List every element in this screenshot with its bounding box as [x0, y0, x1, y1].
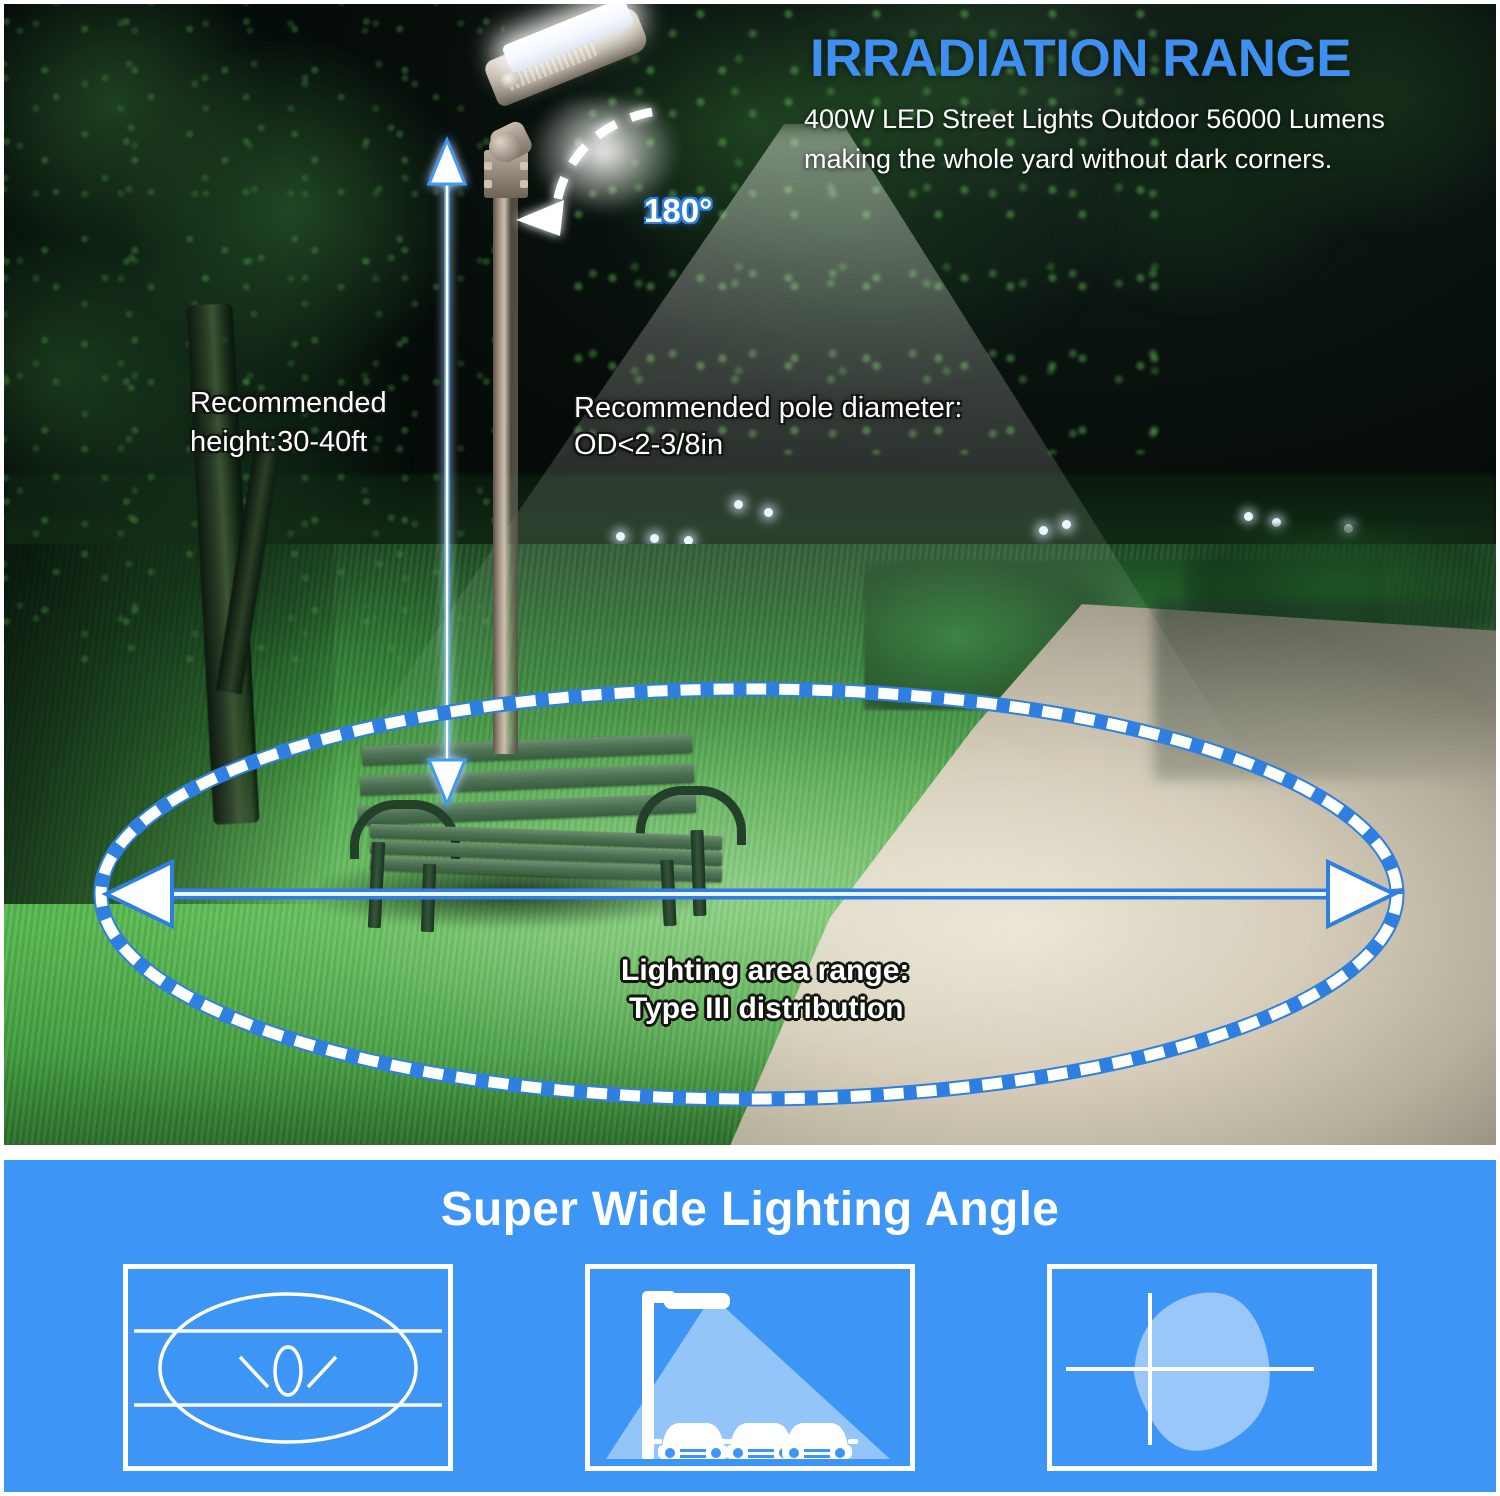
headline-subtitle-line2: making the whole yard without dark corne…: [804, 144, 1332, 175]
bench-leg: [421, 864, 436, 932]
lighting-area-label-line2: Type III distribution: [629, 992, 903, 1026]
banner-title: Super Wide Lighting Angle: [4, 1182, 1496, 1237]
bench-backrest-slat: [362, 734, 692, 766]
super-wide-lighting-angle-section: Super Wide Lighting Angle: [4, 1160, 1496, 1492]
mount-bolt: [484, 162, 492, 170]
side-view-beam-diagram: [590, 1269, 910, 1466]
recommended-height-label-line2: height:30-40ft: [190, 426, 367, 459]
rotation-angle-label: 180°: [644, 192, 712, 230]
polar-distribution-diagram: [1052, 1269, 1372, 1466]
distribution-lobe: [1134, 1293, 1270, 1451]
mount-bolt: [520, 180, 528, 188]
light-pole: [493, 154, 518, 754]
ellipse-footprint: [160, 1294, 416, 1442]
path-shadow: [1154, 600, 1496, 780]
mount-bolt: [484, 180, 492, 188]
fixture-tilt-hinge: [489, 132, 521, 162]
bench-backrest-slat: [360, 764, 694, 796]
pole-diameter-label-line1: Recommended pole diameter:: [574, 392, 962, 425]
panel-top-view-footprint: [123, 1264, 453, 1471]
irradiation-range-photo: IRRADIATION RANGE 400W LED Street Lights…: [4, 4, 1496, 1145]
page-title: IRRADIATION RANGE: [810, 28, 1351, 89]
panel-side-view-beam: [585, 1264, 915, 1471]
pole-diameter-label-line2: OD<2-3/8in: [574, 429, 723, 462]
center-beam-lobe: [275, 1347, 301, 1395]
headline-subtitle-line1: 400W LED Street Lights Outdoor 56000 Lum…: [804, 104, 1385, 135]
beam-ray-right: [308, 1357, 336, 1387]
beam-ray-left: [240, 1357, 268, 1387]
panel-polar-distribution: [1047, 1264, 1377, 1471]
recommended-height-label-line1: Recommended: [190, 387, 387, 420]
lighting-area-label-line1: Lighting area range:: [621, 954, 909, 988]
diagram-panel-row: [4, 1264, 1496, 1479]
park-bench: [344, 734, 744, 934]
mount-bolt: [520, 162, 528, 170]
top-view-footprint-diagram: [128, 1269, 448, 1466]
